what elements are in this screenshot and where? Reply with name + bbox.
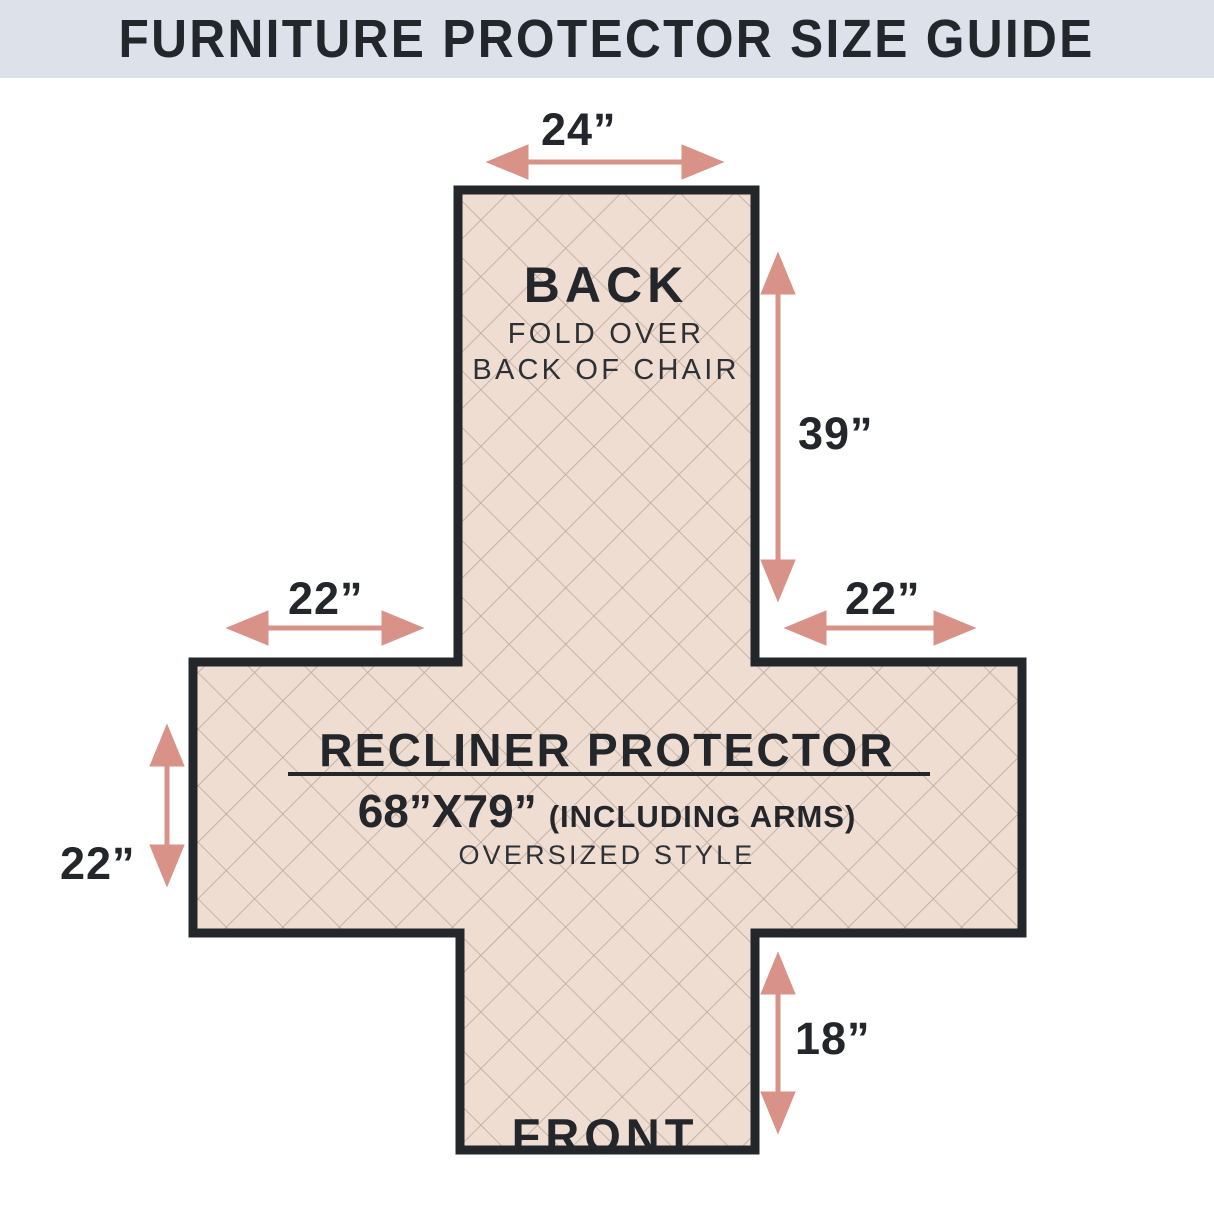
center-panel-style: OVERSIZED STYLE [207, 840, 1007, 871]
center-panel-divider [288, 772, 930, 776]
back-panel-title: BACK [380, 256, 832, 314]
protector-diagram: BACK FOLD OVER BACK OF CHAIR RECLINER PR… [0, 78, 1214, 1214]
diagram-svg [0, 78, 1214, 1214]
page-title: FURNITURE PROTECTOR SIZE GUIDE [119, 8, 1095, 70]
dimension-arrow-bottom [764, 958, 792, 1128]
size-guide-page: FURNITURE PROTECTOR SIZE GUIDE [0, 0, 1214, 1214]
dimension-arrow-side [153, 730, 181, 881]
center-panel-title: RECLINER PROTECTOR [207, 723, 1007, 777]
dimension-label-bottom: 18” [795, 1013, 871, 1065]
header-band: FURNITURE PROTECTOR SIZE GUIDE [0, 0, 1214, 78]
center-panel-size: 68”X79” [358, 784, 537, 838]
dimension-label-arm-right: 22” [845, 573, 921, 625]
back-panel-subtitle-line2: BACK OF CHAIR [380, 352, 832, 388]
dimension-label-arm-left: 22” [288, 573, 364, 625]
dimension-label-right: 39” [798, 408, 874, 460]
back-panel-subtitle-line1: FOLD OVER [380, 316, 832, 352]
dimension-label-side: 22” [60, 838, 136, 890]
front-panel-title: FRONT [390, 1108, 820, 1163]
back-panel-subtitle: FOLD OVER BACK OF CHAIR [380, 316, 832, 388]
center-panel-size-note: (INCLUDING ARMS) [549, 799, 857, 835]
dimension-label-top: 24” [541, 104, 617, 156]
center-panel-size-row: 68”X79” (INCLUDING ARMS) [207, 784, 1007, 838]
